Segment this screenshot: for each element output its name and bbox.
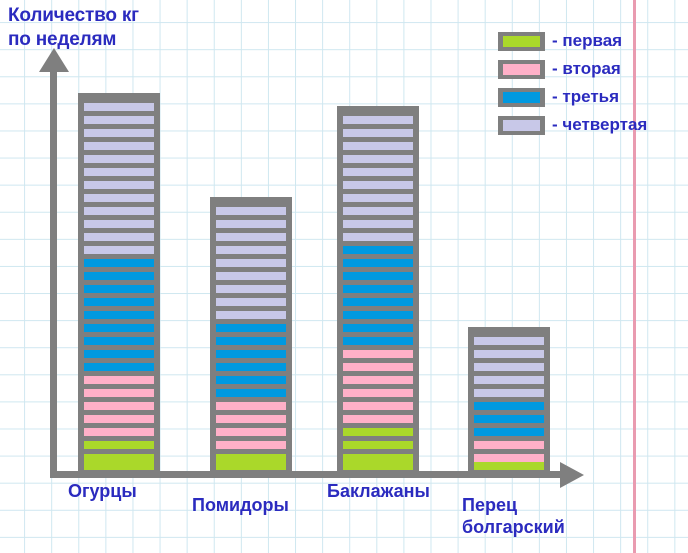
bar-stripe-четвертая bbox=[84, 233, 154, 241]
bar-stripe-четвертая bbox=[343, 194, 413, 202]
bar-stripe-четвертая bbox=[84, 207, 154, 215]
bar-stripe-третья bbox=[84, 285, 154, 293]
bar-stripe-третья bbox=[343, 311, 413, 319]
bar-stripe-четвертая bbox=[84, 181, 154, 189]
chart-legend: - первая- вторая- третья- четвертая bbox=[498, 31, 647, 135]
bar-stripe-вторая bbox=[343, 415, 413, 423]
legend-label: - четвертая bbox=[552, 115, 647, 135]
bar-stripe-четвертая bbox=[343, 168, 413, 176]
bar-stripe-четвертая bbox=[216, 285, 286, 293]
bar-stripe-четвертая bbox=[474, 337, 544, 345]
bar-stripe-четвертая bbox=[474, 350, 544, 358]
bar-stripe-третья bbox=[474, 415, 544, 423]
bar-stripe-четвертая bbox=[84, 103, 154, 111]
stacked-bar bbox=[210, 197, 292, 475]
bar-stripe-вторая bbox=[474, 454, 544, 462]
bar-stripe-четвертая bbox=[343, 181, 413, 189]
bar-stripe-первая bbox=[343, 441, 413, 449]
bar-stripe-четвертая bbox=[84, 168, 154, 176]
bar-stripe-третья bbox=[343, 298, 413, 306]
bar-stripe-третья bbox=[84, 363, 154, 371]
bar-stripe-третья bbox=[84, 259, 154, 267]
bar-stripe-четвертая bbox=[343, 155, 413, 163]
bar-stripe-третья bbox=[343, 246, 413, 254]
bar-stripe-третья bbox=[343, 337, 413, 345]
bar-stripe-третья bbox=[84, 272, 154, 280]
bar-stripe-четвертая bbox=[216, 311, 286, 319]
legend-label: - третья bbox=[552, 87, 619, 107]
bar-stripe-первая bbox=[216, 462, 286, 470]
bar-stripe-вторая bbox=[84, 376, 154, 384]
stacked-bar bbox=[468, 327, 550, 475]
bar-stripe-вторая bbox=[84, 402, 154, 410]
bar-stripe-четвертая bbox=[343, 129, 413, 137]
x-axis-category-label: Баклажаны bbox=[327, 480, 430, 502]
bar-stripe-вторая bbox=[343, 350, 413, 358]
x-axis-category-label: Помидоры bbox=[192, 494, 289, 516]
bar-stripe-третья bbox=[84, 298, 154, 306]
legend-swatch-icon bbox=[498, 32, 545, 51]
y-axis-line bbox=[50, 68, 57, 478]
bar-stripe-четвертая bbox=[84, 142, 154, 150]
legend-item: - третья bbox=[498, 87, 647, 107]
legend-item: - вторая bbox=[498, 59, 647, 79]
bar-stripe-вторая bbox=[84, 415, 154, 423]
bar-stripe-вторая bbox=[343, 376, 413, 384]
bar-stripe-вторая bbox=[216, 428, 286, 436]
bar-stripe-четвертая bbox=[216, 259, 286, 267]
legend-swatch-icon bbox=[498, 88, 545, 107]
bar-stripe-третья bbox=[343, 272, 413, 280]
bar-stripe-четвертая bbox=[343, 233, 413, 241]
bar-stripe-третья bbox=[216, 350, 286, 358]
x-axis-arrow-icon bbox=[560, 462, 584, 488]
bar-stripe-четвертая bbox=[84, 220, 154, 228]
bar-stripe-четвертая bbox=[474, 389, 544, 397]
bar-stripe-вторая bbox=[216, 441, 286, 449]
bar-stripe-четвертая bbox=[343, 207, 413, 215]
bar-stripe-четвертая bbox=[216, 272, 286, 280]
stacked-bar bbox=[78, 93, 160, 475]
legend-label: - вторая bbox=[552, 59, 621, 79]
bar-stripe-третья bbox=[216, 376, 286, 384]
legend-item: - четвертая bbox=[498, 115, 647, 135]
bar-stripe-третья bbox=[84, 337, 154, 345]
bar-stripe-третья bbox=[216, 389, 286, 397]
bar-stripe-четвертая bbox=[474, 363, 544, 371]
legend-item: - первая bbox=[498, 31, 647, 51]
bar-stripe-третья bbox=[84, 324, 154, 332]
bar-stripe-четвертая bbox=[343, 142, 413, 150]
bar-stripe-вторая bbox=[216, 415, 286, 423]
bar-stripe-четвертая bbox=[216, 298, 286, 306]
legend-swatch-icon bbox=[498, 60, 545, 79]
bar-stripe-вторая bbox=[474, 441, 544, 449]
bar-stripe-четвертая bbox=[216, 233, 286, 241]
bar-stripe-третья bbox=[343, 259, 413, 267]
bar-stripe-четвертая bbox=[84, 116, 154, 124]
bar-stripe-третья bbox=[84, 311, 154, 319]
bar-stripe-четвертая bbox=[216, 207, 286, 215]
bar-stripe-третья bbox=[343, 324, 413, 332]
bar-stripe-вторая bbox=[216, 402, 286, 410]
bar-stripe-четвертая bbox=[84, 155, 154, 163]
bar-stripe-четвертая bbox=[84, 194, 154, 202]
chart-canvas: Количество кг по неделям ОгурцыПомидорыБ… bbox=[0, 0, 688, 553]
bar-stripe-третья bbox=[216, 337, 286, 345]
stacked-bar bbox=[337, 106, 419, 475]
x-axis-category-label: Перец болгарский bbox=[462, 494, 565, 538]
bar-stripe-вторая bbox=[343, 402, 413, 410]
x-axis-category-label: Огурцы bbox=[68, 480, 137, 502]
legend-swatch-icon bbox=[498, 116, 545, 135]
bar-stripe-третья bbox=[84, 350, 154, 358]
bar-stripe-четвертая bbox=[343, 220, 413, 228]
bar-stripe-вторая bbox=[343, 363, 413, 371]
bar-stripe-третья bbox=[343, 285, 413, 293]
bar-stripe-первая bbox=[343, 454, 413, 462]
bar-stripe-вторая bbox=[84, 428, 154, 436]
bar-stripe-четвертая bbox=[216, 246, 286, 254]
bar-stripe-первая bbox=[84, 454, 154, 462]
bar-stripe-первая bbox=[84, 441, 154, 449]
bar-stripe-четвертая bbox=[474, 376, 544, 384]
y-axis-label: Количество кг по неделям bbox=[8, 4, 139, 52]
bar-stripe-четвертая bbox=[216, 220, 286, 228]
bar-stripe-третья bbox=[474, 428, 544, 436]
bar-stripe-первая bbox=[216, 454, 286, 462]
bar-stripe-первая bbox=[343, 462, 413, 470]
bar-stripe-третья bbox=[474, 402, 544, 410]
bar-stripe-четвертая bbox=[84, 129, 154, 137]
bar-stripe-первая bbox=[84, 462, 154, 470]
bar-stripe-четвертая bbox=[343, 116, 413, 124]
bar-stripe-третья bbox=[216, 363, 286, 371]
bar-stripe-третья bbox=[216, 324, 286, 332]
bar-stripe-вторая bbox=[343, 389, 413, 397]
bar-stripe-четвертая bbox=[84, 246, 154, 254]
bar-stripe-первая bbox=[474, 462, 544, 470]
legend-label: - первая bbox=[552, 31, 622, 51]
bar-stripe-первая bbox=[343, 428, 413, 436]
bar-stripe-вторая bbox=[84, 389, 154, 397]
